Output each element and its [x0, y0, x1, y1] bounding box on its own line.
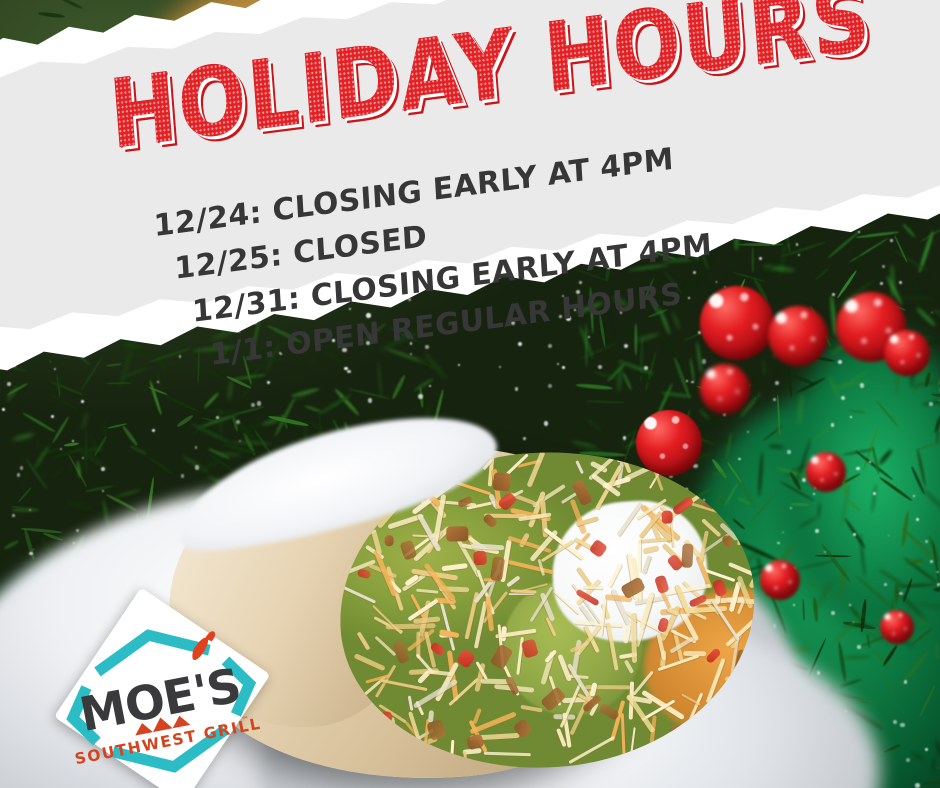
bracket-top-icon [97, 625, 204, 668]
meat-bit [385, 535, 394, 546]
meat-bit [598, 703, 620, 721]
tomato-bit [456, 649, 476, 669]
berry-icon [806, 452, 846, 492]
burrito [177, 395, 783, 788]
meat-bit [681, 544, 693, 569]
tomato-bit [353, 748, 365, 761]
logo-trademark-icon: ™ [241, 715, 251, 725]
berry-icon [884, 330, 930, 376]
tomato-bit [662, 511, 673, 524]
berry-icon [880, 610, 914, 644]
berry-icon [768, 306, 828, 366]
meat-bit [700, 737, 712, 749]
tomato-bit [473, 550, 487, 566]
meat-bit [392, 640, 410, 664]
meat-bit [446, 526, 468, 541]
holiday-hours-poster: HOLIDAY HOURS HOLIDAY HOURS 12/24: CLOSI… [0, 0, 940, 788]
meat-bit [493, 472, 512, 491]
tomato-bit [356, 568, 371, 579]
tomato-bit [671, 496, 694, 516]
